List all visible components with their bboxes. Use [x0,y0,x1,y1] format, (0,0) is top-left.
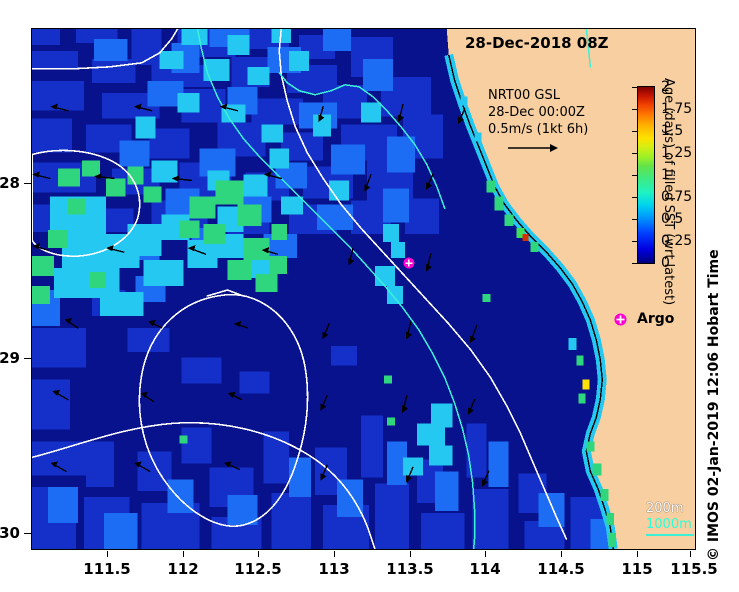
argo-legend-label: Argo [637,311,674,327]
argo-float-marker-map [403,258,414,269]
y-tick-label-2: -30 [0,524,20,542]
velocity-annotation: NRT00 GSL 28-Dec 00:00Z 0.5m/s (1kt 6h) [488,87,588,156]
x-tick-label-8: 115.5 [670,560,717,578]
map-plot-area[interactable]: 28-Dec-2018 08Z NRT00 GSL 28-Dec 00:00Z … [31,28,696,550]
x-tick-label-4: 113.5 [386,560,433,578]
map-title-date: 28-Dec-2018 08Z [465,34,609,52]
copyright-text: © IMOS 02-Jan-2019 12:06 Hobart Time [706,249,722,561]
figure-canvas: 28-Dec-2018 08Z NRT00 GSL 28-Dec 00:00Z … [0,0,739,592]
colorbar-title: Age (days) of filled SST (wrt latest) [661,78,676,305]
x-tick-label-6: 114.5 [537,560,584,578]
x-tick-label-5: 114 [469,560,500,578]
bathy-1000m-label: 1000m [646,517,694,533]
x-tick-label-7: 115 [621,560,652,578]
x-tick-label-0: 111.5 [83,560,130,578]
argo-legend: Argo [613,311,674,327]
y-tick-label-0: -28 [0,174,20,192]
y-tick-label-1: -29 [0,349,20,367]
velocity-source: NRT00 GSL [488,87,588,104]
colorbar[interactable]: 0 0.25 0.5 0.75 1 1.25 1.5 1.75 2 [637,86,655,264]
sst-age-raster [32,29,695,549]
colorbar-gradient [637,86,655,264]
x-tick-label-1: 112 [167,560,198,578]
velocity-scale-arrow-icon [506,140,566,156]
x-tick-label-2: 112.5 [234,560,281,578]
velocity-time: 28-Dec 00:00Z [488,104,588,121]
bathy-1000m-swatch [646,534,694,536]
bathymetry-legend: 200m 1000m [646,501,694,536]
x-tick-label-3: 113 [318,560,349,578]
bathy-200m-label: 200m [646,501,694,517]
velocity-scale: 0.5m/s (1kt 6h) [488,121,588,138]
argo-marker-icon [613,312,628,327]
